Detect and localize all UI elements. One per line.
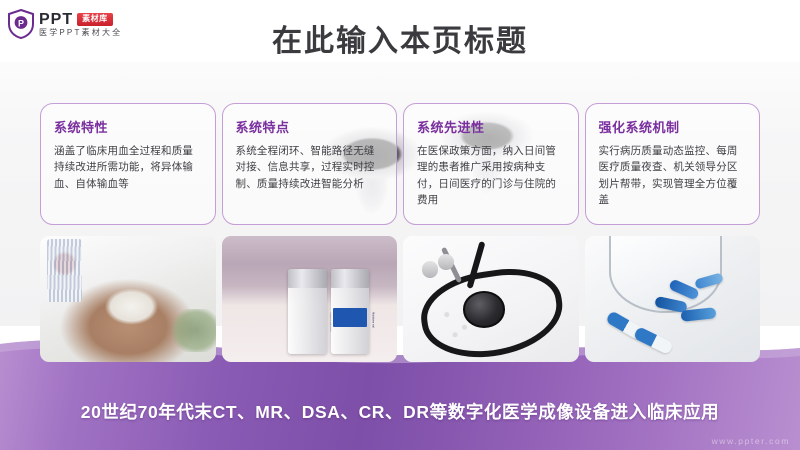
feature-card-2-title: 系统特点 — [236, 117, 385, 136]
vaccine-vial-2: Multidose vial — [331, 269, 369, 355]
feature-card-1-body: 涵盖了临床用血全过程和质量持续改进所需功能，将异体输血、自体输血等 — [54, 143, 203, 192]
footer-watermark: www.ppter.com — [712, 436, 790, 446]
feature-card-2-body: 系统全程闭环、智能路径无缝对接、信息共享，过程实时控制、质量持续改进智能分析 — [236, 143, 385, 192]
feature-card-4-body: 实行病历质量动态监控、每周医疗质量夜查、机关领导分区划片帮带，实现管理全方位覆盖 — [599, 143, 748, 208]
vial-2-label: Multidose vial — [325, 312, 375, 340]
page-title: 在此输入本页标题 — [0, 16, 800, 60]
photo-blue-capsules — [585, 236, 761, 362]
photo-covid-vaccine-vials: Vaccine Janssen Multidose vial — [222, 236, 398, 362]
photo-stethoscope — [403, 236, 579, 362]
feature-card-3[interactable]: 系统先进性 在医保政策方面，纳入日间管理的患者推广采用按病种支付，日间医疗的门诊… — [403, 103, 579, 225]
feature-card-3-body: 在医保政策方面，纳入日间管理的患者推广采用按病种支付，日间医疗的门诊与住院的费用 — [417, 143, 566, 208]
stethoscope-earpiece-right — [438, 254, 454, 270]
feature-card-2[interactable]: 系统特点 系统全程闭环、智能路径无缝对接、信息共享，过程实时控制、质量持续改进智… — [222, 103, 398, 225]
feature-card-4[interactable]: 强化系统机制 实行病历质量动态监控、每周医疗质量夜查、机关领导分区划片帮带，实现… — [585, 103, 761, 225]
slide-root: P PPT 素材库 医学PPT素材大全 在此输入本页标题 系统特性 涵盖了临床用… — [0, 0, 800, 450]
photo-row: Vaccine Janssen Multidose vial — [40, 236, 760, 362]
capsule — [681, 307, 717, 322]
feature-card-1[interactable]: 系统特性 涵盖了临床用血全过程和质量持续改进所需功能，将异体输血、自体输血等 — [40, 103, 216, 225]
vaccine-vial-1: Vaccine Janssen — [288, 269, 326, 355]
feature-card-3-title: 系统先进性 — [417, 117, 566, 136]
capsule — [633, 326, 673, 354]
stethoscope-earpiece-left — [422, 261, 438, 277]
bottom-banner-text: 20世纪70年代末CT、MR、DSA、CR、DR等数字化医学成像设备进入临床应用 — [0, 399, 800, 424]
stethoscope-chestpiece — [463, 291, 506, 328]
feature-card-4-title: 强化系统机制 — [599, 117, 748, 136]
vaccine-vial-group: Vaccine Janssen Multidose vial — [288, 269, 369, 355]
vial-cap-icon — [331, 269, 369, 288]
vial-cap-icon — [288, 269, 326, 288]
feature-card-1-title: 系统特性 — [54, 117, 203, 136]
photo-doctor-holding-pills — [40, 236, 216, 362]
feature-card-row: 系统特性 涵盖了临床用血全过程和质量持续改进所需功能，将异体输血、自体输血等 系… — [40, 103, 760, 225]
